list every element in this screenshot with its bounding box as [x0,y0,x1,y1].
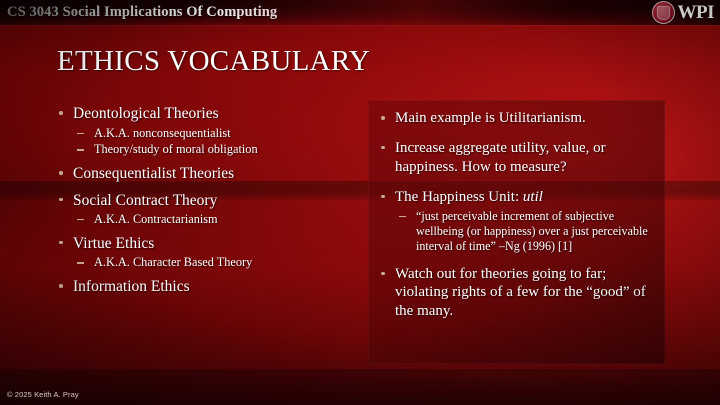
list-item: Watch out for theories going to far; vio… [378,265,653,322]
sub-list-item: A.K.A. nonconsequentialist [73,126,356,141]
bullet-label: Increase aggregate utility, value, or ha… [395,140,606,175]
sub-bullet-label: A.K.A. nonconsequentialist [94,126,231,140]
sub-bullet-list: A.K.A. Contractarianism [73,212,356,227]
bullet-label: Virtue Ethics [73,235,154,252]
copyright-footer: © 2025 Keith A. Pray [7,390,79,399]
bullet-label: Social Contract Theory [73,192,217,209]
sub-list-item: A.K.A. Contractarianism [73,212,356,227]
bullet-dash-icon [77,133,84,134]
bullet-label: Watch out for theories going to far; vio… [395,266,646,320]
sub-bullet-list: A.K.A. Character Based Theory [73,255,356,270]
bullet-dot-icon [59,284,63,288]
bullet-dot-icon [381,195,385,199]
sub-list-item: “just perceivable increment of subjectiv… [395,209,653,254]
bullet-dot-icon [59,171,63,175]
list-item: Increase aggregate utility, value, or ha… [378,139,653,177]
bullet-dot-icon [59,241,63,245]
left-content-column: Deontological Theories A.K.A. nonconsequ… [56,104,356,304]
sub-bullet-label: Theory/study of moral obligation [94,142,258,156]
bullet-label: Information Ethics [73,278,190,295]
list-item: Consequentialist Theories [56,164,356,184]
bullet-dash-icon [77,219,84,220]
list-item: The Happiness Unit: util “just perceivab… [378,188,653,254]
background-band-bottom [0,369,720,405]
sub-bullet-label: A.K.A. Character Based Theory [94,255,252,269]
sub-list-item: Theory/study of moral obligation [73,142,356,157]
list-item: Social Contract Theory A.K.A. Contractar… [56,191,356,227]
sub-bullet-label: “just perceivable increment of subjectiv… [416,209,648,253]
slide-header: CS 3043 Social Implications Of Computing… [0,0,720,25]
right-panel-inner: Main example is Utilitarianism. Increase… [368,100,665,321]
bullet-dot-icon [59,111,63,115]
list-item: Main example is Utilitarianism. [378,109,653,128]
wpi-wordmark: WPI [678,3,715,22]
bullet-label: Deontological Theories [73,105,219,122]
bullet-dot-icon [59,198,63,202]
right-content-panel: Main example is Utilitarianism. Increase… [368,100,665,364]
bullet-dot-icon [381,116,385,120]
wpi-seal-icon [652,1,675,24]
bullet-dash-icon [399,216,406,217]
sub-list-item: A.K.A. Character Based Theory [73,255,356,270]
left-bullet-list: Deontological Theories A.K.A. nonconsequ… [56,104,356,297]
bullet-dot-icon [381,272,385,276]
course-title: CS 3043 Social Implications Of Computing [0,4,277,21]
bullet-label: Consequentialist Theories [73,165,234,182]
bullet-dot-icon [381,146,385,150]
bullet-label-prefix: The Happiness Unit: [395,189,523,205]
sub-bullet-list: A.K.A. nonconsequentialist Theory/study … [73,126,356,158]
bullet-dash-icon [77,262,84,263]
presentation-slide: CS 3043 Social Implications Of Computing… [0,0,720,405]
bullet-dash-icon [77,149,84,150]
bullet-label: Main example is Utilitarianism. [395,110,586,126]
page-title: ETHICS VOCABULARY [57,45,370,78]
list-item: Information Ethics [56,277,356,297]
list-item: Virtue Ethics A.K.A. Character Based The… [56,234,356,270]
sub-bullet-label: A.K.A. Contractarianism [94,212,218,226]
sub-bullet-list: “just perceivable increment of subjectiv… [395,209,653,254]
right-bullet-list: Main example is Utilitarianism. Increase… [378,109,653,321]
bullet-label-italic: util [523,189,543,205]
wpi-brand: WPI [652,1,715,24]
list-item: Deontological Theories A.K.A. nonconsequ… [56,104,356,157]
